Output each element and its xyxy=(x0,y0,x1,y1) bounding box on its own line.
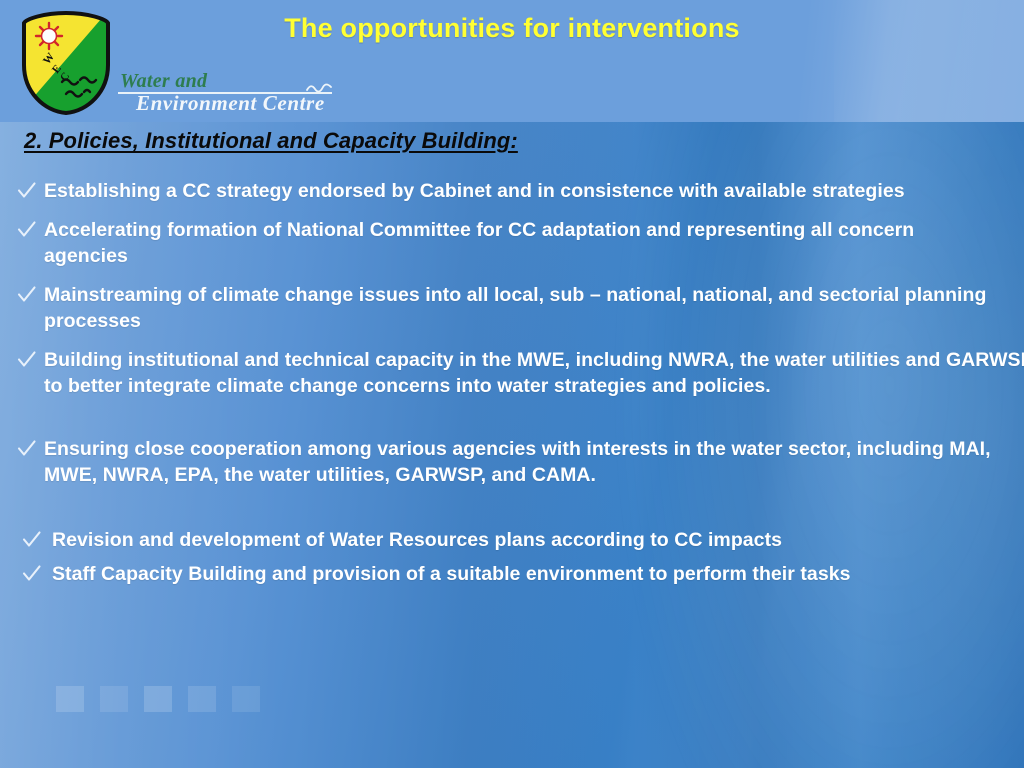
decorative-bar xyxy=(188,686,216,712)
list-item-text: Ensuring close cooperation among various… xyxy=(44,436,1024,489)
bullet-list: Establishing a CC strategy endorsed by C… xyxy=(14,178,1014,588)
check-mark-icon xyxy=(17,220,36,239)
logo-word-line-1: Water and xyxy=(120,70,207,93)
check-mark-icon xyxy=(22,564,41,583)
presentation-slide: W E C Water and Environment Centre The o… xyxy=(0,0,1024,768)
list-item: Establishing a CC strategy endorsed by C… xyxy=(14,178,974,205)
logo-word-line-2: Environment Centre xyxy=(136,91,325,116)
list-item-text: Staff Capacity Building and provision of… xyxy=(52,561,1012,588)
page-title: The opportunities for interventions xyxy=(0,13,1024,44)
decorative-bar xyxy=(144,686,172,712)
list-item: Revision and development of Water Resour… xyxy=(14,527,1024,554)
list-item-text: Accelerating formation of National Commi… xyxy=(44,217,924,270)
check-mark-icon xyxy=(17,439,36,458)
check-mark-icon xyxy=(17,285,36,304)
list-item-text: Building institutional and technical cap… xyxy=(44,347,1024,400)
list-item: Building institutional and technical cap… xyxy=(14,347,1024,400)
check-mark-icon xyxy=(22,530,41,549)
list-item: Staff Capacity Building and provision of… xyxy=(14,561,1012,588)
check-mark-icon xyxy=(17,181,36,200)
decorative-bars xyxy=(56,686,316,712)
section-subtitle: 2. Policies, Institutional and Capacity … xyxy=(24,128,518,154)
decorative-bar xyxy=(232,686,260,712)
list-item: Accelerating formation of National Commi… xyxy=(14,217,924,270)
list-item: Ensuring close cooperation among various… xyxy=(14,436,1024,489)
check-mark-icon xyxy=(17,350,36,369)
list-item: Mainstreaming of climate change issues i… xyxy=(14,282,1024,335)
decorative-bar xyxy=(100,686,128,712)
list-item-text: Establishing a CC strategy endorsed by C… xyxy=(44,178,974,205)
logo-wordmark: Water and Environment Centre xyxy=(110,70,342,120)
decorative-bar xyxy=(56,686,84,712)
list-item-text: Revision and development of Water Resour… xyxy=(52,527,1024,554)
list-item-text: Mainstreaming of climate change issues i… xyxy=(44,282,1024,335)
